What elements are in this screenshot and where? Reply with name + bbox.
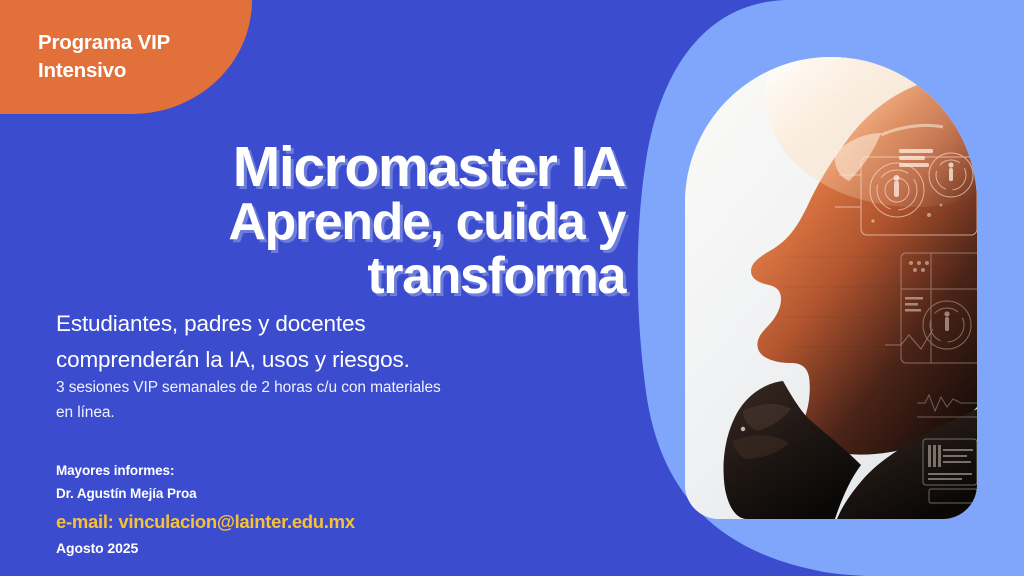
contact-name: Dr. Agustín Mejía Proa (56, 482, 355, 505)
lead-paragraph: Estudiantes, padres y docentes comprende… (56, 306, 556, 379)
contact-heading: Mayores informes: (56, 459, 355, 482)
program-badge: Programa VIP Intensivo (0, 0, 252, 114)
ai-profile-illustration (685, 57, 977, 519)
title-line-3: transforma (60, 249, 625, 303)
contact-email[interactable]: e-mail: vinculacion@lainter.edu.mx (56, 508, 355, 537)
title-line-2: Aprende, cuida y (60, 195, 625, 249)
detail-paragraph: 3 sesiones VIP semanales de 2 horas c/u … (56, 375, 534, 425)
event-date: Agosto 2025 (56, 540, 138, 556)
contact-block: Mayores informes: Dr. Agustín Mejía Proa… (56, 459, 355, 537)
promotional-slide: Programa VIP Intensivo Micromaster IA Ap… (0, 0, 1024, 576)
page-title: Micromaster IA Aprende, cuida y transfor… (60, 140, 625, 303)
program-badge-label: Programa VIP Intensivo (38, 29, 228, 86)
title-line-1: Micromaster IA (60, 140, 625, 195)
hero-photo (685, 57, 977, 519)
